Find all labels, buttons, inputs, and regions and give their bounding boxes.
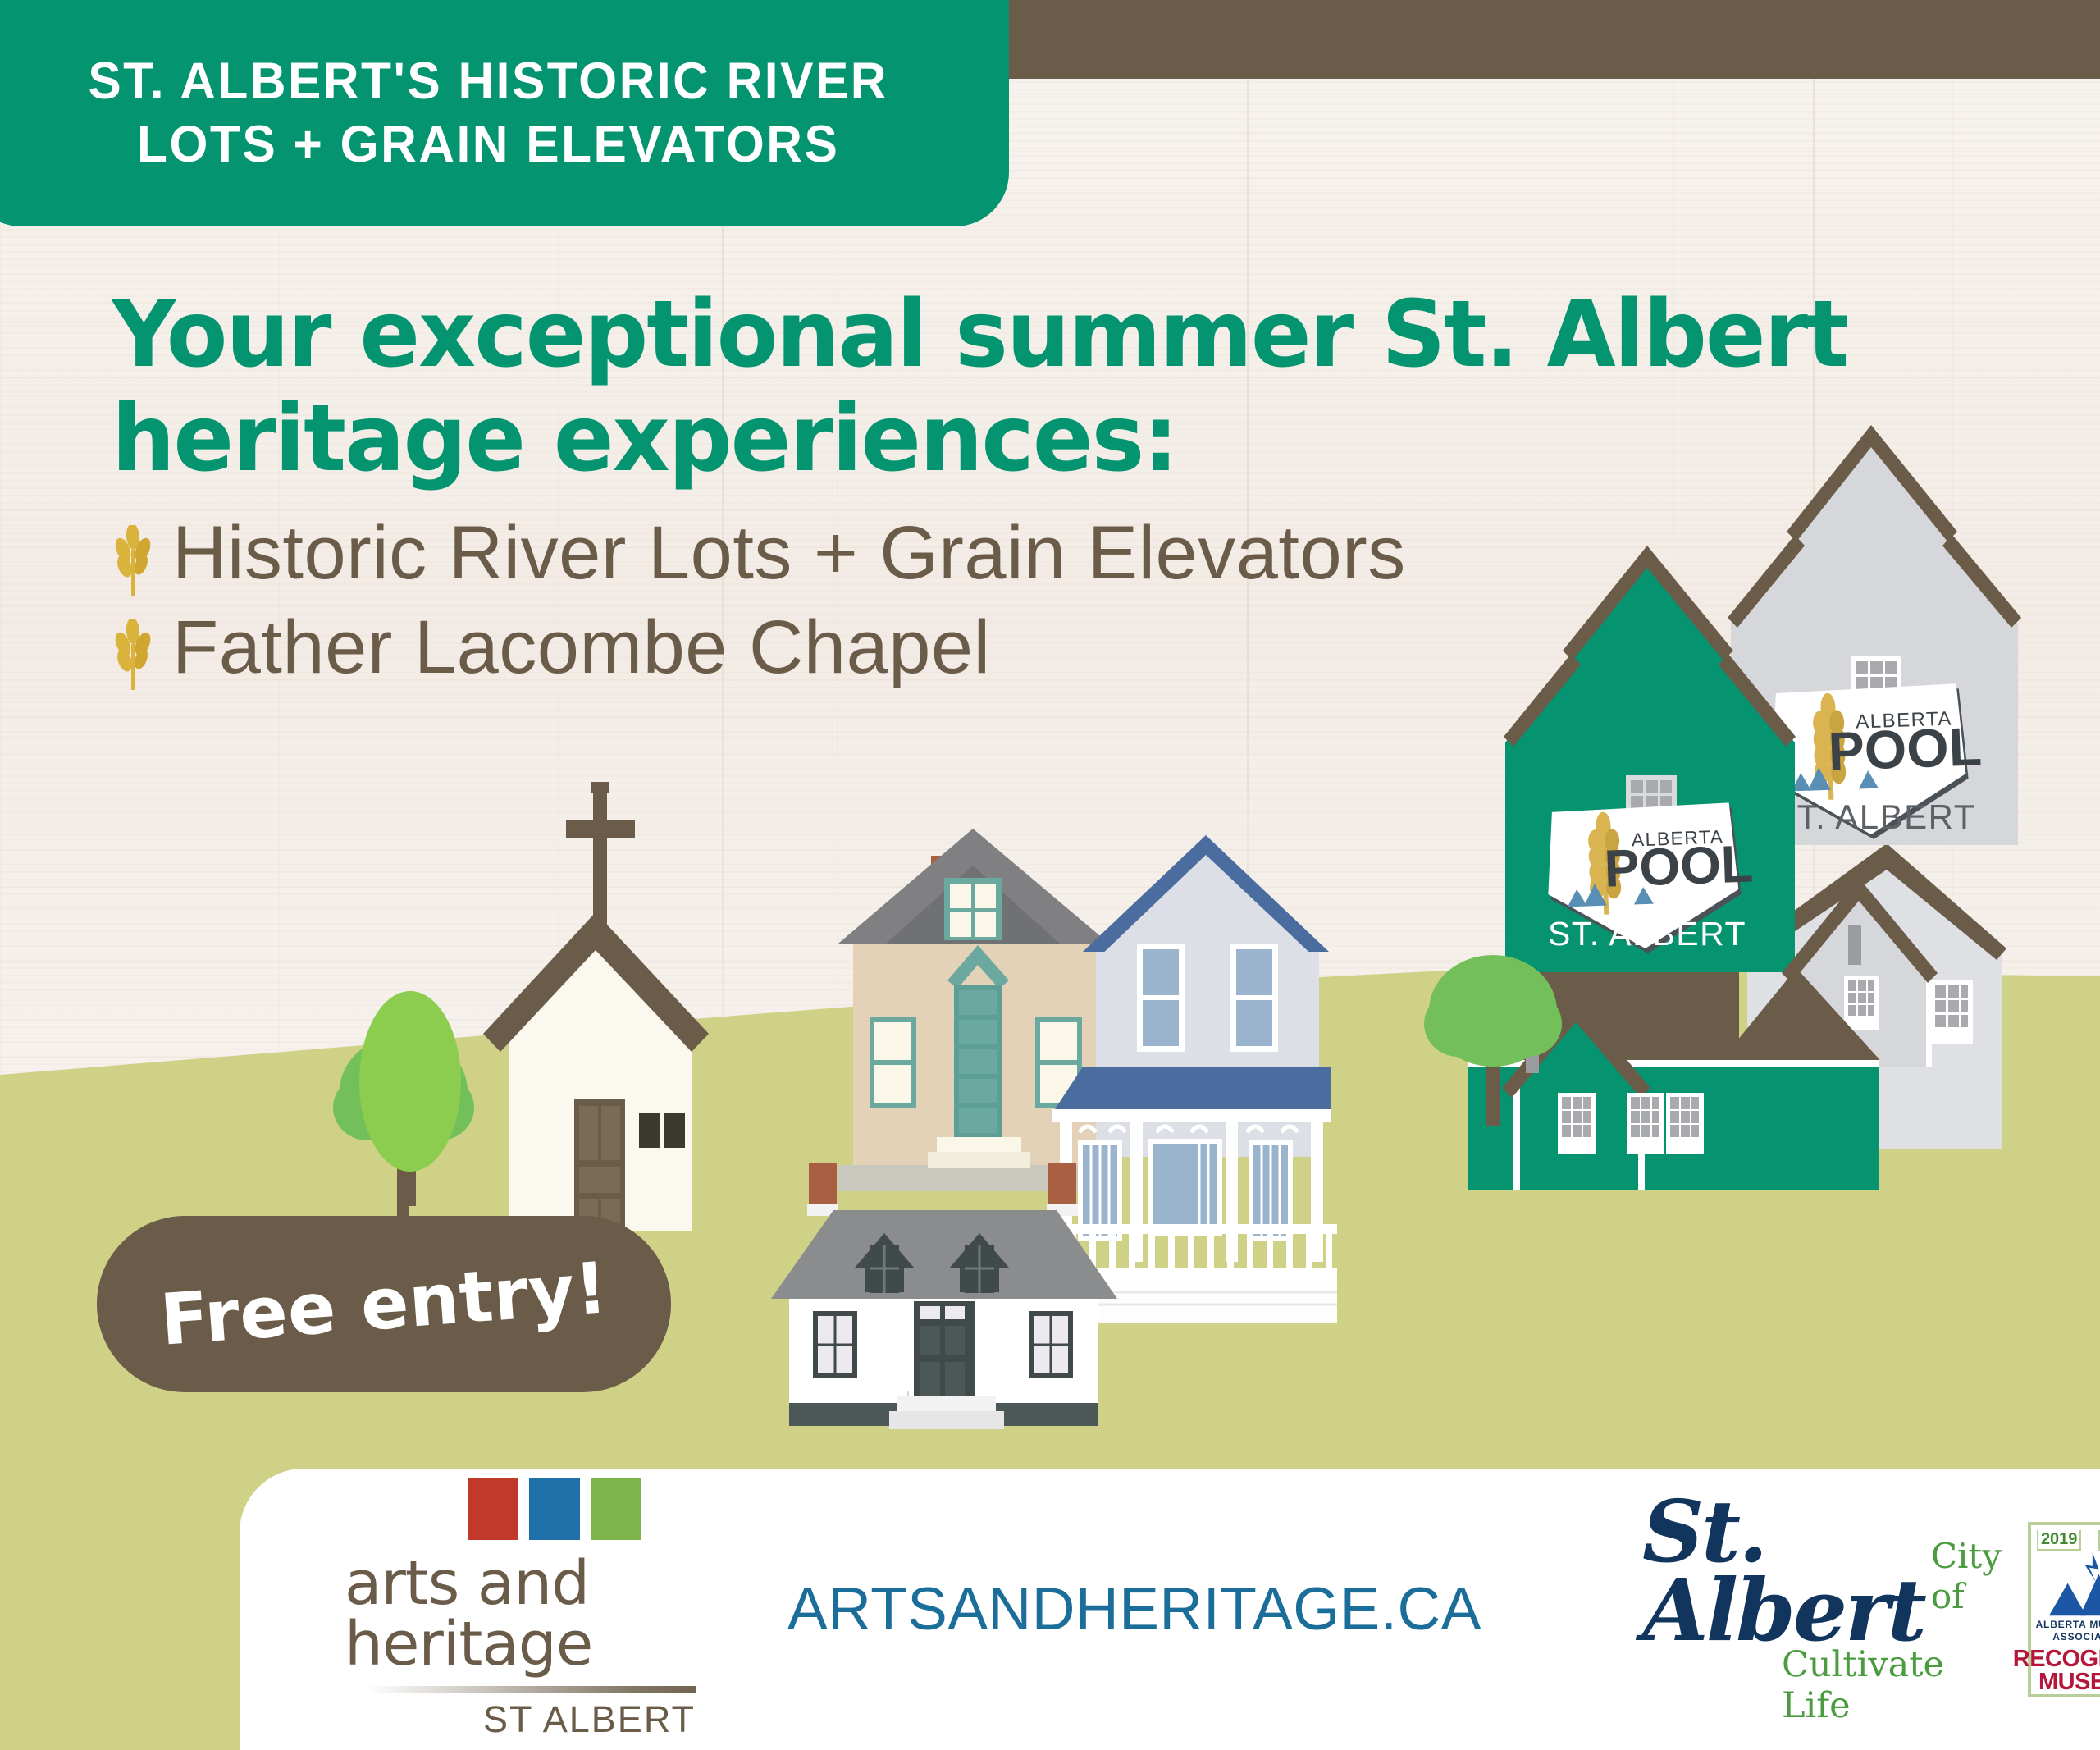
headline-line1: Your exceptional summer St. Albert: [112, 283, 1965, 387]
city-tagline: Cultivate Life: [1782, 1644, 1995, 1726]
wheat-icon: [112, 525, 154, 596]
website-link[interactable]: ARTSANDHERITAGE.CA: [787, 1575, 1481, 1643]
logo-rule: [367, 1686, 696, 1693]
city-of-label: City of: [1931, 1536, 2002, 1616]
wheat-icon: [112, 619, 154, 690]
logo-bar-green: [591, 1478, 641, 1540]
badge-recognized-line1: RECOGNIZED: [2013, 1647, 2100, 1670]
badge-year-start: 2019: [2037, 1530, 2082, 1551]
badge-recognized-line2: MUSEUM: [2013, 1670, 2100, 1693]
list-item: Father Lacombe Chapel: [112, 603, 2023, 692]
recognized-museum-badge: 2019 2024 ALBERTA MUSEUMS ASSOCIATION RE…: [2028, 1522, 2100, 1697]
poster-canvas: ALBERTA POOL ST. ALBERT: [0, 0, 2100, 1750]
free-entry-badge: Free entry!: [97, 1216, 671, 1392]
logo-bar-blue: [529, 1478, 580, 1540]
badge-recognized: RECOGNIZED MUSEUM: [2013, 1647, 2100, 1694]
logo-bar-red: [468, 1478, 518, 1540]
city-name: St. Albert: [1642, 1492, 1924, 1649]
header-title-line1: ST. ALBERT'S HISTORIC RIVER: [88, 53, 888, 110]
header-title: ST. ALBERT'S HISTORIC RIVER LOTS + GRAIN…: [88, 50, 888, 176]
page-title: Your exceptional summer St. Albert herit…: [112, 283, 1965, 491]
headline-block: Your exceptional summer St. Albert herit…: [112, 283, 2023, 697]
mountain-icon: [2038, 1551, 2100, 1617]
arts-heritage-sublabel: ST ALBERT: [345, 1698, 696, 1741]
list-item-label: Historic River Lots + Grain Elevators: [172, 509, 1406, 598]
badge-association-line2: ASSOCIATION: [2036, 1631, 2100, 1643]
footer-bar: arts and heritage ST ALBERT ARTSANDHERIT…: [240, 1469, 2100, 1750]
logo-color-bars: [468, 1478, 696, 1540]
badge-years: 2019 2024: [2031, 1530, 2100, 1551]
header-title-line2: LOTS + GRAIN ELEVATORS: [137, 116, 839, 173]
arts-heritage-logo: arts and heritage ST ALBERT: [345, 1478, 696, 1741]
city-of-st-albert-logo: St. Albert City of Cultivate Life: [1642, 1492, 1995, 1726]
badge-association: ALBERTA MUSEUMS ASSOCIATION: [2036, 1619, 2100, 1643]
free-entry-label: Free entry!: [157, 1247, 610, 1362]
badge-association-line1: ALBERTA MUSEUMS: [2036, 1619, 2100, 1631]
experience-list: Historic River Lots + Grain Elevators Fa…: [112, 509, 2023, 692]
arts-heritage-wordmark: arts and heritage: [345, 1553, 696, 1675]
header-banner: ST. ALBERT'S HISTORIC RIVER LOTS + GRAIN…: [0, 0, 1009, 226]
list-item-label: Father Lacombe Chapel: [172, 603, 991, 692]
headline-line2: heritage experiences:: [112, 387, 1965, 491]
list-item: Historic River Lots + Grain Elevators: [112, 509, 2023, 598]
